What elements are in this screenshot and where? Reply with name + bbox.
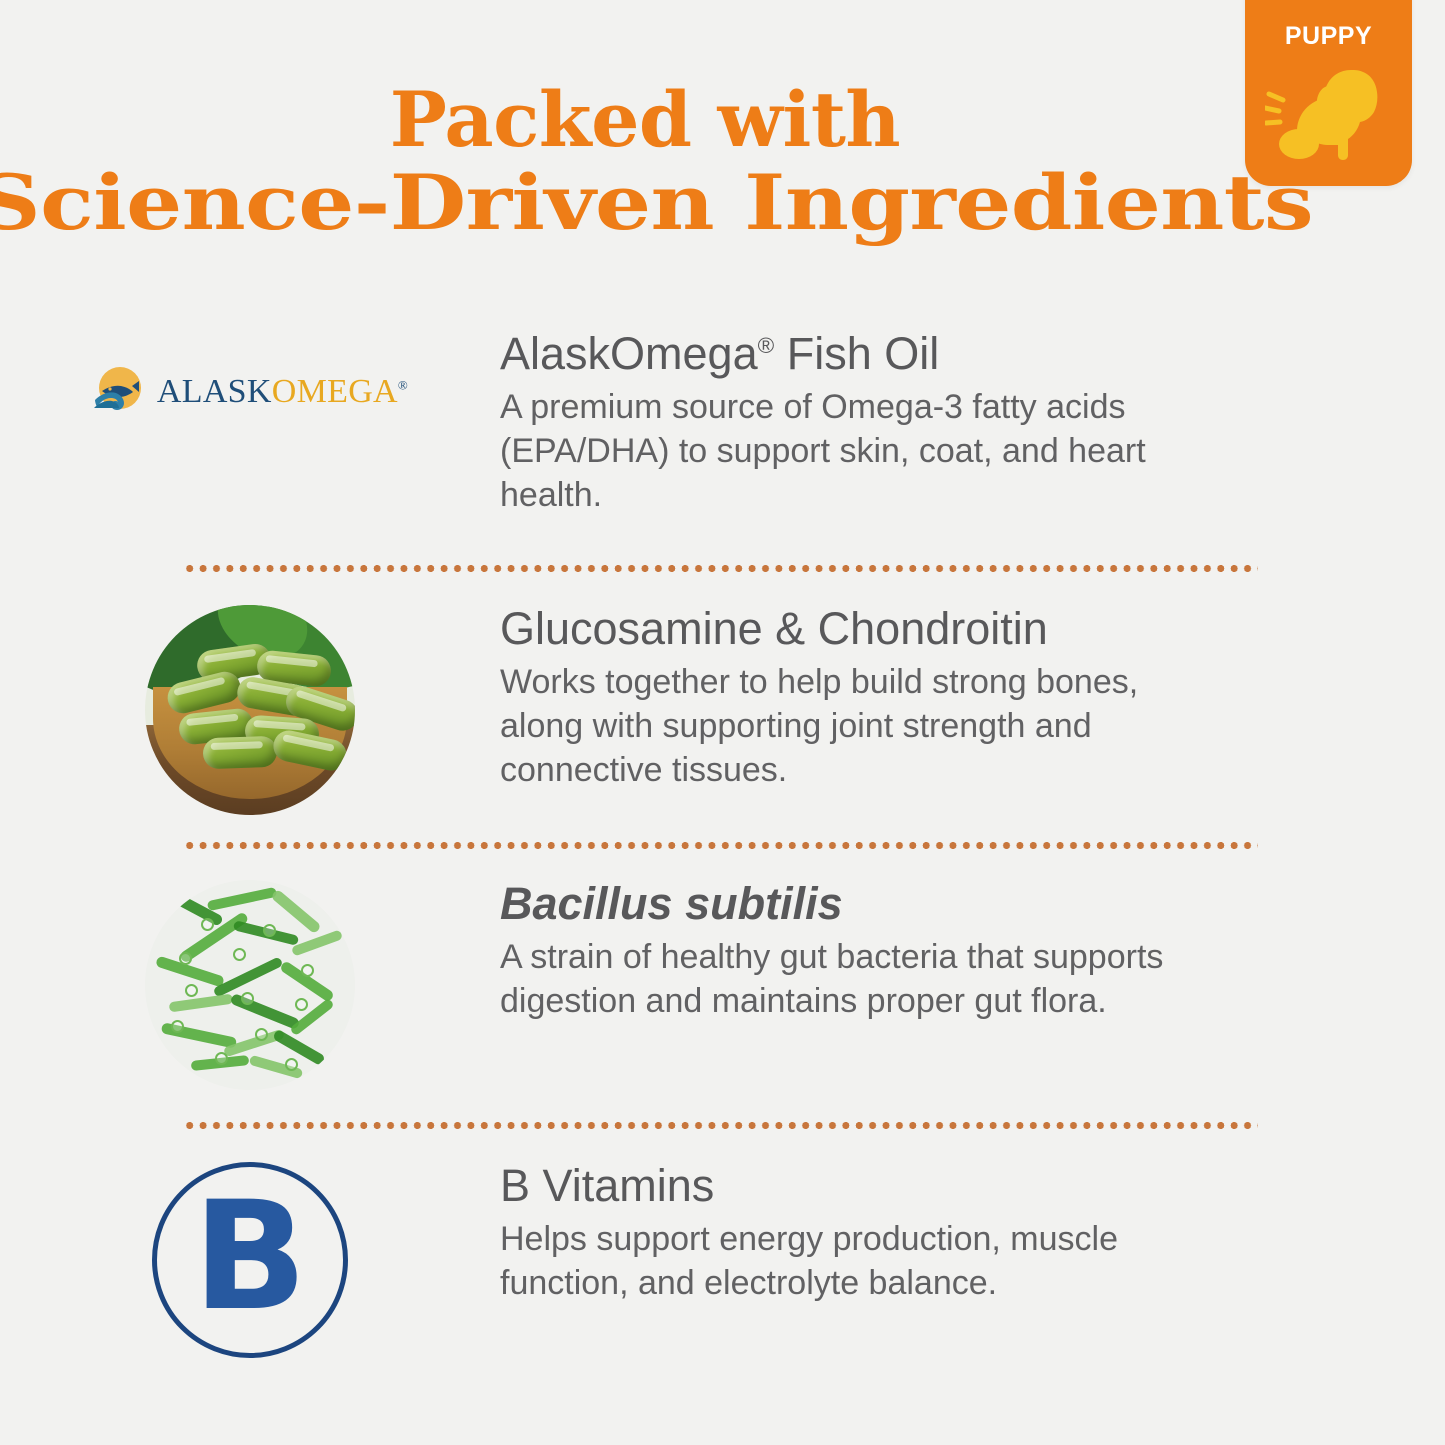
ingredient-icon-cell [0,605,500,815]
ingredient-description-glucosamine: Works together to help build strong bone… [500,660,1180,793]
ingredient-title-suffix: Fish Oil [774,328,939,379]
ingredient-row-glucosamine: Glucosamine & Chondroitin Works together… [0,605,1445,815]
ingredient-title-b-vitamins: B Vitamins [500,1162,1265,1211]
ingredient-text-cell: B Vitamins Helps support energy producti… [500,1162,1445,1305]
ingredient-description-bacillus: A strain of healthy gut bacteria that su… [500,935,1180,1023]
alaskomega-word-part2: OMEGA [272,373,398,410]
ingredient-icon-cell [0,880,500,1090]
alaskomega-logo: ALASKOMEGA® [92,364,408,420]
ingredient-title-glucosamine: Glucosamine & Chondroitin [500,605,1265,654]
registered-mark: ® [758,333,775,358]
ingredient-row-fish-oil: ALASKOMEGA® AlaskOmega® Fish Oil A premi… [0,330,1445,517]
ingredient-icon-cell: ALASKOMEGA® [0,330,500,420]
ingredient-row-b-vitamins: B B Vitamins Helps support energy produc… [0,1162,1445,1358]
page-title: Packed with Science-Driven Ingredients [0,84,1290,240]
ingredient-icon-cell: B [0,1162,500,1358]
title-line-2: Science-Driven Ingredients [0,167,1393,240]
ingredient-text-cell: Glucosamine & Chondroitin Works together… [500,605,1445,792]
puppy-badge-label: PUPPY [1245,22,1412,51]
ingredient-row-bacillus: Bacillus subtilis A strain of healthy gu… [0,880,1445,1090]
title-line-1: Packed with [0,84,1290,157]
b-vitamin-letter: B [193,1182,307,1332]
ingredient-title-fish-oil: AlaskOmega® Fish Oil [500,330,1265,379]
bacteria-microscope-photo [145,880,355,1090]
b-vitamin-circle-icon: B [152,1162,348,1358]
alaskomega-registered-mark: ® [398,378,408,393]
ingredient-title-bacillus: Bacillus subtilis [500,880,1265,929]
green-capsules-photo [145,605,355,815]
ingredient-text-cell: AlaskOmega® Fish Oil A premium source of… [500,330,1445,517]
alaskomega-emblem-icon [92,364,148,420]
ingredient-description-b-vitamins: Helps support energy production, muscle … [500,1217,1180,1305]
alaskomega-word-part1: ALASK [157,373,272,410]
ingredient-description-fish-oil: A premium source of Omega-3 fatty acids … [500,385,1180,518]
ingredient-text-cell: Bacillus subtilis A strain of healthy gu… [500,880,1445,1023]
divider-3 [183,1122,1258,1129]
ingredient-title-brand: AlaskOmega [500,328,758,379]
alaskomega-wordmark: ALASKOMEGA® [157,373,408,411]
divider-2 [183,842,1258,849]
divider-1 [183,565,1258,572]
ingredients-infographic: PUPPY Packed with Science-Driven Ingredi… [0,0,1445,1445]
